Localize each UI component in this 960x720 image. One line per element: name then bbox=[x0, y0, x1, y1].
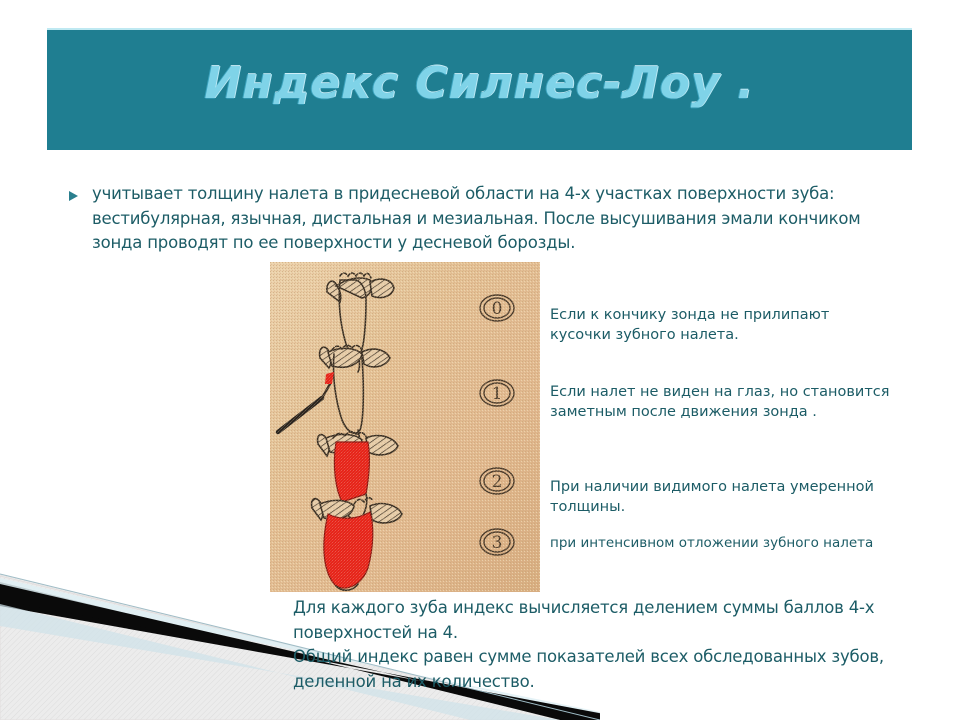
closing-paragraph: Для каждого зуба индекс вычисляется деле… bbox=[293, 596, 903, 694]
closing-line-2: Общий индекс равен сумме показателей все… bbox=[293, 645, 903, 694]
slide-canvas: Индекс Силнес-Лоу . учитывает толщину на… bbox=[0, 0, 960, 720]
score-description-3: при интенсивном отложении зубного налета bbox=[550, 534, 890, 553]
bullet-item: учитывает толщину налета в придесневой о… bbox=[66, 182, 866, 256]
score-description-0: Если к кончику зонда не прилипают кусочк… bbox=[550, 305, 890, 345]
closing-line-1: Для каждого зуба индекс вычисляется деле… bbox=[293, 596, 903, 645]
page-title: Индекс Силнес-Лоу . bbox=[47, 58, 912, 109]
bullet-text: учитывает толщину налета в придесневой о… bbox=[92, 182, 866, 256]
score-description-2: При наличии видимого налета умеренной то… bbox=[550, 477, 902, 517]
title-banner: Индекс Силнес-Лоу . bbox=[47, 28, 912, 150]
plaque-index-illustration: 0 1 2 3 bbox=[270, 262, 540, 592]
score-description-1: Если налет не виден на глаз, но становит… bbox=[550, 382, 922, 422]
triangle-right-bullet-icon bbox=[66, 182, 92, 203]
